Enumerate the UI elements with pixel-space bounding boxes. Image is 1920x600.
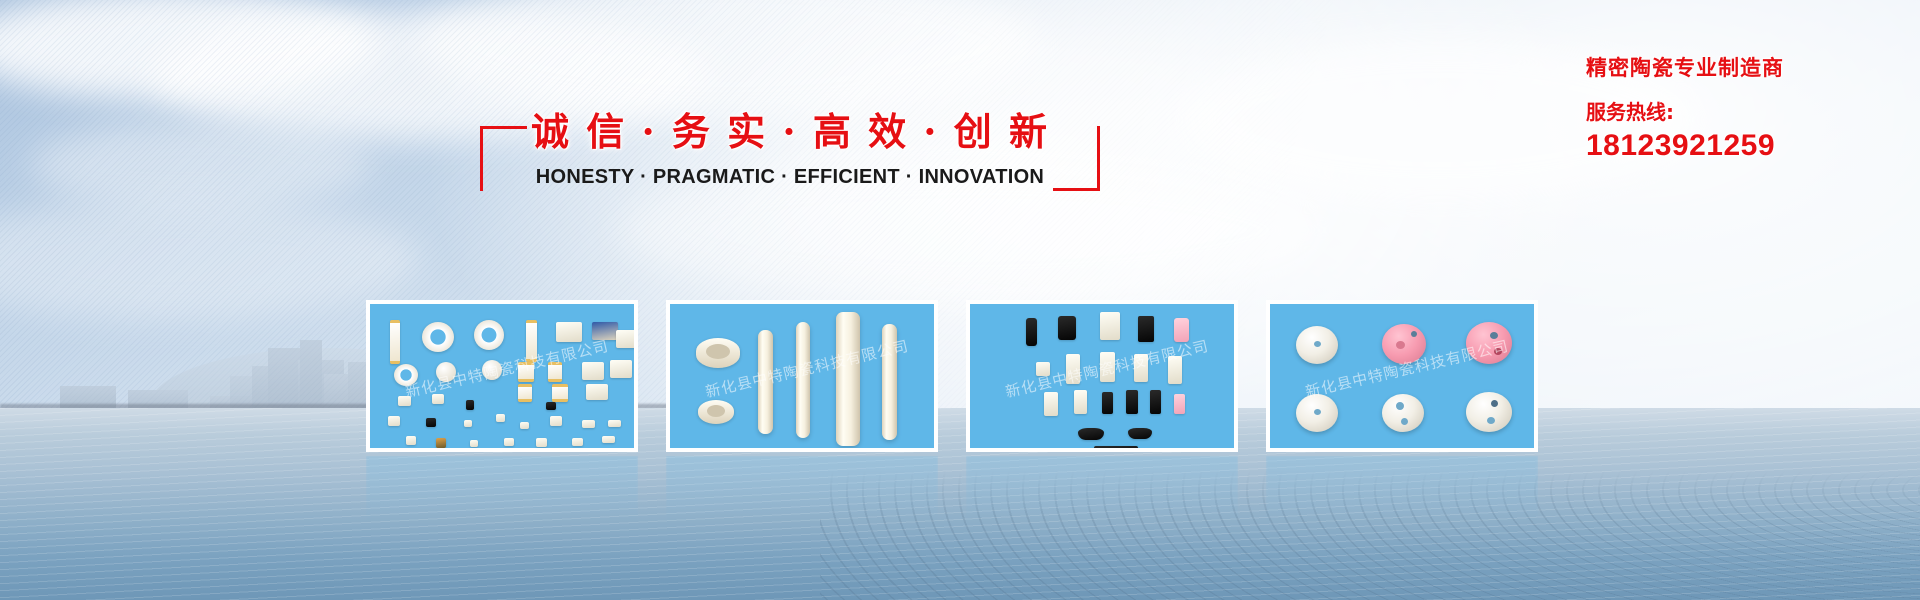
product-gallery: 新化县中特陶瓷科技有限公司 新化县中特陶瓷科技有限公司: [366, 300, 1556, 404]
product-panel-1[interactable]: 新化县中特陶瓷科技有限公司: [366, 300, 638, 452]
slogan-block: 诚 信 · 务 实 · 高 效 · 创 新 HONESTY · PRAGMATI…: [480, 104, 1100, 212]
panel-reflection: [966, 456, 1238, 534]
panel-reflection: [1266, 456, 1538, 534]
slogan-chinese: 诚 信 · 务 实 · 高 效 · 创 新: [480, 104, 1100, 160]
panel-reflection: [366, 456, 638, 534]
panel-reflection: [666, 456, 938, 534]
product-panel-2[interactable]: 新化县中特陶瓷科技有限公司: [666, 300, 938, 452]
product-panel-3[interactable]: 新化县中特陶瓷科技有限公司: [966, 300, 1238, 452]
slogan-english: HONESTY · PRAGMATIC · EFFICIENT · INNOVA…: [480, 166, 1100, 189]
hero-banner: 诚 信 · 务 实 · 高 效 · 创 新 HONESTY · PRAGMATI…: [0, 0, 1920, 600]
contact-block: 精密陶瓷专业制造商 服务热线: 18123921259: [1586, 52, 1906, 163]
hotline-phone-number[interactable]: 18123921259: [1586, 129, 1906, 163]
company-tagline: 精密陶瓷专业制造商: [1586, 52, 1906, 82]
product-panel-4[interactable]: 新化县中特陶瓷科技有限公司: [1266, 300, 1538, 452]
hotline-label: 服务热线:: [1586, 96, 1906, 125]
